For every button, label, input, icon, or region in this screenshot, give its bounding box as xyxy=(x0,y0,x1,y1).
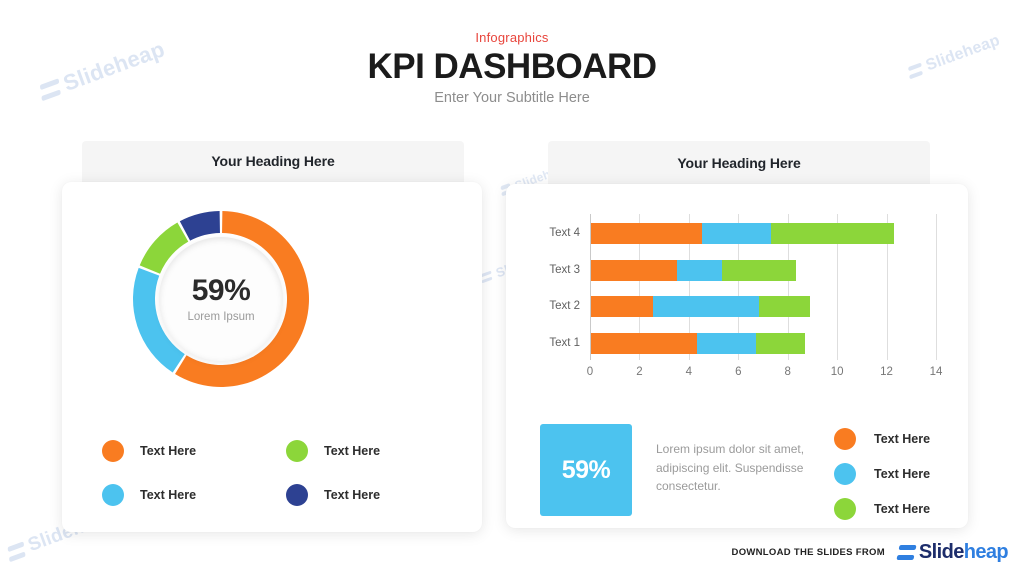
legend-label: Text Here xyxy=(874,502,930,516)
slideheap-logo[interactable]: Slideheap xyxy=(897,541,1008,564)
left-legend-item[interactable]: Text Here xyxy=(286,440,462,462)
chart-bar-segment xyxy=(591,296,653,317)
donut-center-label: 59% Lorem Ipsum xyxy=(159,237,283,361)
right-legend-item[interactable]: Text Here xyxy=(834,498,930,520)
right-panel-legend: Text HereText HereText Here xyxy=(834,428,930,520)
page-subtitle: Enter Your Subtitle Here xyxy=(0,90,1024,106)
chart-y-tick-label: Text 3 xyxy=(549,260,580,281)
chart-x-tick-label: 4 xyxy=(686,366,692,378)
chart-bar-segment xyxy=(759,296,811,317)
stat-description: Lorem ipsum dolor sit amet, adipiscing e… xyxy=(656,440,816,496)
chart-bar-segment xyxy=(677,260,721,281)
chart-bar-segment xyxy=(702,223,771,244)
watermark-logo-icon xyxy=(6,538,27,564)
legend-color-dot-icon xyxy=(834,498,856,520)
left-legend-item[interactable]: Text Here xyxy=(102,484,278,506)
chart-gridline xyxy=(936,214,937,360)
chart-bar-segment xyxy=(653,296,759,317)
donut-chart: 59% Lorem Ipsum xyxy=(116,194,326,404)
legend-label: Text Here xyxy=(140,488,196,502)
chart-x-tick-label: 14 xyxy=(930,366,943,378)
legend-color-dot-icon xyxy=(286,484,308,506)
legend-label: Text Here xyxy=(324,488,380,502)
chart-bar-segment xyxy=(591,260,677,281)
legend-label: Text Here xyxy=(324,444,380,458)
chart-bar-segment xyxy=(591,223,702,244)
footer: DOWNLOAD THE SLIDES FROM Slideheap xyxy=(732,541,1008,564)
right-panel-header-band: Your Heading Here xyxy=(548,141,930,187)
chart-bar-row: Text 1 xyxy=(591,333,936,354)
page-title: KPI DASHBOARD xyxy=(0,48,1024,85)
donut-value: 59% xyxy=(192,276,251,306)
legend-label: Text Here xyxy=(874,432,930,446)
eyebrow-label: Infographics xyxy=(0,30,1024,45)
right-legend-item[interactable]: Text Here xyxy=(834,428,930,450)
chart-x-tick-label: 8 xyxy=(785,366,791,378)
chart-y-tick-label: Text 4 xyxy=(549,223,580,244)
left-panel-heading: Your Heading Here xyxy=(82,141,464,181)
left-panel-header-band: Your Heading Here xyxy=(82,141,464,185)
brand-name: Slideheap xyxy=(919,541,1008,564)
chart-bar-segment xyxy=(756,333,805,354)
chart-bar-segment xyxy=(697,333,756,354)
chart-y-tick-label: Text 1 xyxy=(549,333,580,354)
legend-color-dot-icon xyxy=(286,440,308,462)
chart-bar-row: Text 2 xyxy=(591,296,936,317)
legend-label: Text Here xyxy=(874,467,930,481)
left-panel-legend: Text HereText HereText HereText Here xyxy=(102,440,462,506)
chart-bar-segment xyxy=(771,223,894,244)
chart-plot-area: Text 1Text 2Text 3Text 4 xyxy=(590,214,936,360)
chart-x-tick-label: 10 xyxy=(831,366,844,378)
chart-x-tick-label: 2 xyxy=(636,366,642,378)
chart-y-tick-label: Text 2 xyxy=(549,296,580,317)
stat-value-box: 59% xyxy=(540,424,632,516)
chart-x-tick-label: 12 xyxy=(880,366,893,378)
donut-segment xyxy=(180,211,220,241)
legend-color-dot-icon xyxy=(834,463,856,485)
slide-header: Infographics KPI DASHBOARD Enter Your Su… xyxy=(0,30,1024,106)
chart-x-tick-label: 6 xyxy=(735,366,741,378)
donut-sublabel: Lorem Ipsum xyxy=(187,311,254,323)
footer-cta-text: DOWNLOAD THE SLIDES FROM xyxy=(732,547,885,558)
right-legend-item[interactable]: Text Here xyxy=(834,463,930,485)
right-panel-heading: Your Heading Here xyxy=(548,141,930,185)
legend-color-dot-icon xyxy=(834,428,856,450)
chart-bar-row: Text 3 xyxy=(591,260,936,281)
chart-bar-segment xyxy=(722,260,796,281)
legend-color-dot-icon xyxy=(102,484,124,506)
left-legend-item[interactable]: Text Here xyxy=(102,440,278,462)
stat-value: 59% xyxy=(562,456,611,485)
brand-name-first: Slide xyxy=(919,541,964,563)
slideheap-logo-icon xyxy=(895,543,918,562)
legend-label: Text Here xyxy=(140,444,196,458)
legend-color-dot-icon xyxy=(102,440,124,462)
chart-bar-segment xyxy=(591,333,697,354)
stacked-bar-chart: Text 1Text 2Text 3Text 4 02468101214 xyxy=(528,206,948,386)
chart-x-tick-label: 0 xyxy=(587,366,593,378)
right-panel-card: Text 1Text 2Text 3Text 4 02468101214 59%… xyxy=(506,184,968,528)
summary-stat-row: 59% Lorem ipsum dolor sit amet, adipisci… xyxy=(540,424,950,516)
left-panel-card: 59% Lorem Ipsum Text HereText HereText H… xyxy=(62,182,482,532)
chart-x-axis-ticks: 02468101214 xyxy=(590,366,936,384)
left-legend-item[interactable]: Text Here xyxy=(286,484,462,506)
brand-name-second: heap xyxy=(964,541,1008,563)
chart-bar-row: Text 4 xyxy=(591,223,936,244)
